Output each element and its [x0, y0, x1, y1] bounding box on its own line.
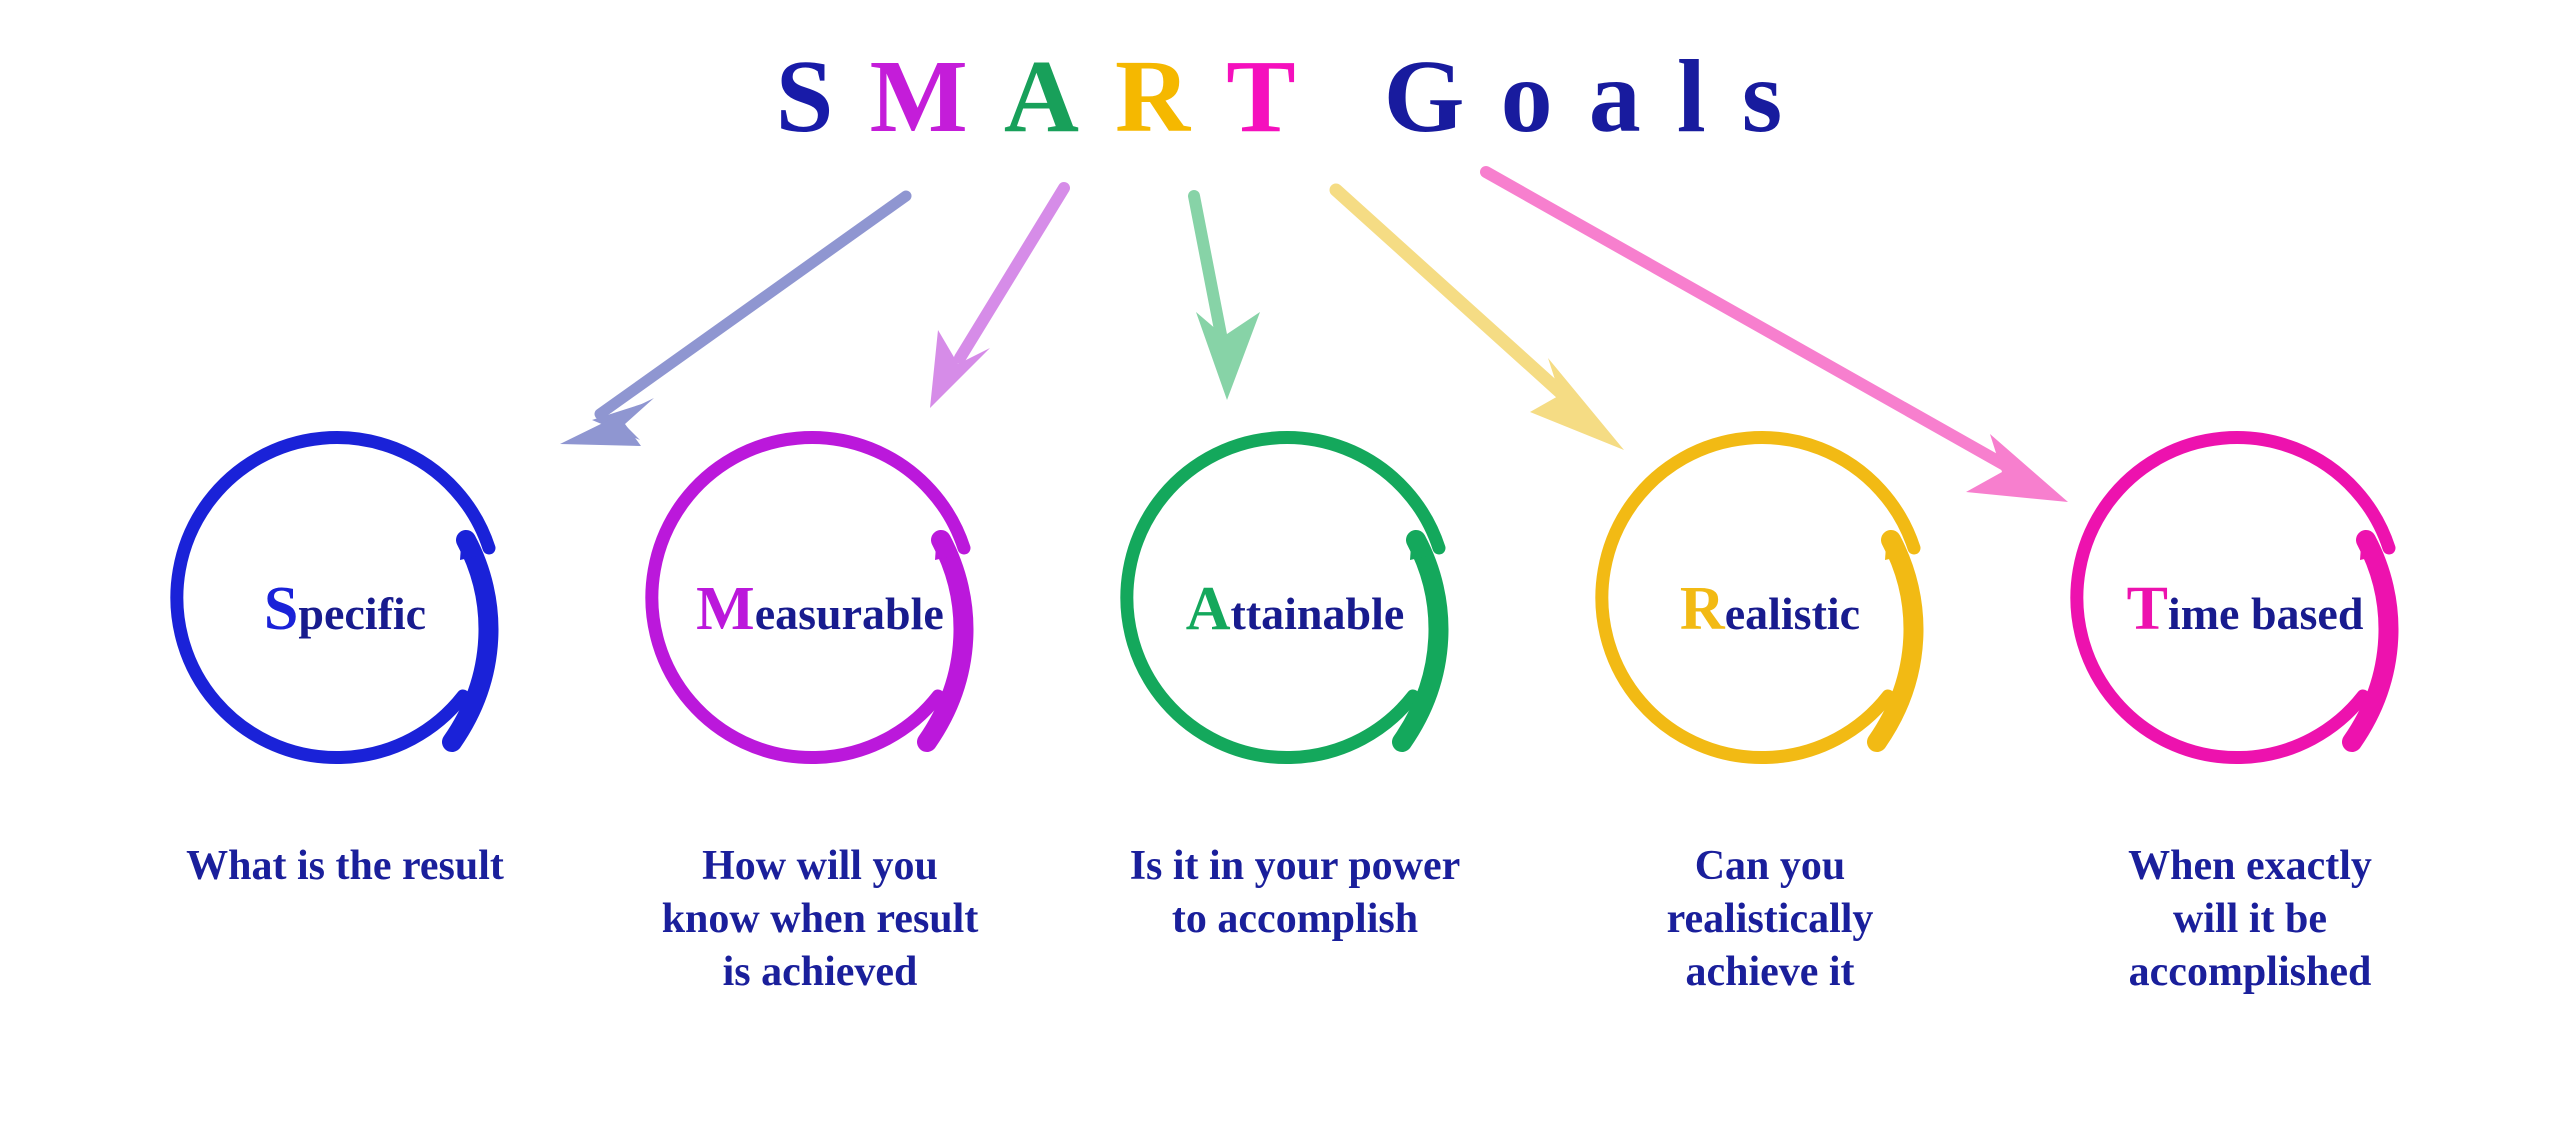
caption-line: to accomplish: [1035, 893, 1555, 946]
caption-line: is achieved: [560, 946, 1080, 999]
caption-line: realistically: [1540, 893, 2000, 946]
title-letter-a: A: [1004, 42, 1081, 151]
title-letter-s: S: [776, 42, 836, 151]
caption-realistic: Can you realistically achieve it: [1540, 840, 2000, 999]
ring-rest-attainable: ttainable: [1231, 588, 1405, 639]
ring-rest-timebased: ime based: [2168, 588, 2364, 639]
caption-line: achieve it: [1540, 946, 2000, 999]
title-letter-m: M: [870, 42, 970, 151]
ring-label-specific: Specific: [135, 578, 555, 640]
ring-label-realistic: Realistic: [1560, 578, 1980, 640]
node-realistic: Realistic: [1560, 410, 1980, 830]
ring-label-attainable: Attainable: [1085, 578, 1505, 640]
arrow-a: [1194, 196, 1260, 400]
caption-line: How will you: [560, 840, 1080, 893]
ring-rest-realistic: ealistic: [1725, 588, 1860, 639]
title-letter-g: G: [1384, 42, 1467, 151]
title-letter-s2: s: [1742, 42, 1785, 151]
ring-initial-measurable: M: [696, 575, 755, 643]
caption-line: Is it in your power: [1035, 840, 1555, 893]
ring-initial-timebased: T: [2127, 575, 2168, 643]
caption-timebased: When exactly will it be accomplished: [2000, 840, 2500, 999]
node-attainable: Attainable: [1085, 410, 1505, 830]
caption-line: know when result: [560, 893, 1080, 946]
ring-label-timebased: Time based: [2035, 578, 2455, 640]
node-specific: Specific: [135, 410, 555, 830]
ring-label-measurable: Measurable: [610, 578, 1030, 640]
page-title: SMARTGoals: [0, 42, 2560, 151]
caption-line: Can you: [1540, 840, 2000, 893]
caption-line: When exactly: [2000, 840, 2500, 893]
node-measurable: Measurable: [610, 410, 1030, 830]
title-letter-r: R: [1115, 42, 1192, 151]
title-letter-a2: a: [1589, 42, 1643, 151]
caption-attainable: Is it in your power to accomplish: [1035, 840, 1555, 946]
caption-line: will it be: [2000, 893, 2500, 946]
title-letter-o: o: [1501, 42, 1555, 151]
ring-initial-specific: S: [264, 575, 298, 643]
ring-rest-measurable: easurable: [755, 588, 944, 639]
arrow-s: [560, 196, 906, 446]
ring-initial-attainable: A: [1186, 575, 1231, 643]
node-timebased: Time based: [2035, 410, 2455, 830]
arrow-m: [930, 188, 1064, 408]
caption-line: accomplished: [2000, 946, 2500, 999]
caption-specific: What is the result: [55, 840, 635, 893]
ring-rest-specific: pecific: [298, 588, 426, 639]
title-letter-l: l: [1677, 42, 1708, 151]
caption-measurable: How will you know when result is achieve…: [560, 840, 1080, 999]
smart-goals-diagram: SMARTGoals Specific Measurable Attainabl…: [0, 0, 2560, 1126]
title-letter-t: T: [1226, 42, 1297, 151]
ring-initial-realistic: R: [1680, 575, 1725, 643]
caption-line: What is the result: [55, 840, 635, 893]
